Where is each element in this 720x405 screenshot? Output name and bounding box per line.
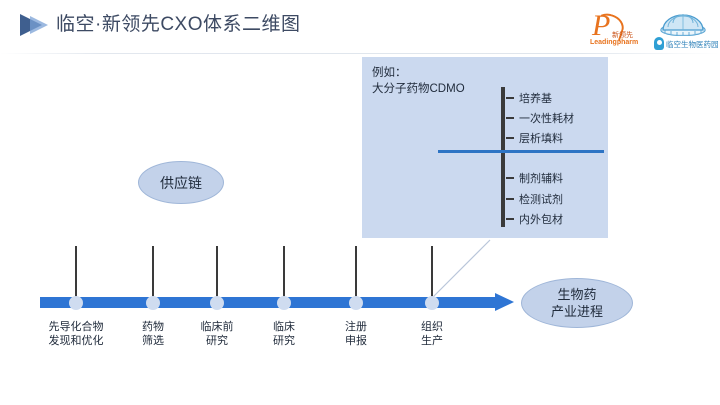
callout-item: 制剂辅料 bbox=[506, 170, 563, 186]
tick-icon bbox=[506, 177, 514, 179]
timeline-stem bbox=[431, 246, 433, 302]
timeline-stage-label: 组织 生产 bbox=[421, 320, 443, 348]
dome-building-icon bbox=[660, 10, 706, 36]
play-triangle-highlight-icon bbox=[30, 16, 48, 34]
timeline-stem bbox=[75, 246, 77, 302]
timeline-arrow-icon bbox=[495, 293, 514, 311]
timeline-node[interactable] bbox=[69, 296, 83, 310]
callout-item: 检测试剂 bbox=[506, 191, 563, 207]
callout-horizontal-line bbox=[438, 150, 604, 153]
callout-item: 内外包材 bbox=[506, 211, 563, 227]
timeline-stage-label: 注册 申报 bbox=[345, 320, 367, 348]
bio-industry-label: 生物药 产业进程 bbox=[551, 286, 603, 320]
park-logo: 临空生物医药园 bbox=[652, 10, 714, 52]
timeline-stage-label: 临床 研究 bbox=[273, 320, 295, 348]
timeline-node[interactable] bbox=[210, 296, 224, 310]
callout-item-label: 内外包材 bbox=[519, 211, 563, 227]
timeline-stage-label: 药物 筛选 bbox=[142, 320, 164, 348]
leadingpharm-p-mark: P bbox=[592, 11, 610, 41]
timeline-stem bbox=[355, 246, 357, 302]
supply-chain-label: 供应链 bbox=[160, 173, 202, 193]
tick-icon bbox=[506, 198, 514, 200]
callout-item-label: 层析填料 bbox=[519, 130, 563, 146]
timeline-node[interactable] bbox=[425, 296, 439, 310]
tick-icon bbox=[506, 218, 514, 220]
page-title: 临空·新领先CXO体系二维图 bbox=[56, 10, 301, 40]
callout-item: 培养基 bbox=[506, 90, 552, 106]
callout-heading: 例如： 大分子药物CDMO bbox=[372, 65, 465, 97]
header-divider bbox=[0, 53, 720, 54]
callout-item-label: 培养基 bbox=[519, 90, 552, 106]
timeline-stem bbox=[283, 246, 285, 302]
cdmo-callout-box: 例如： 大分子药物CDMO 培养基 一次性耗材 层析填料 制剂辅料 检测试剂 内… bbox=[362, 57, 608, 238]
callout-item-label: 制剂辅料 bbox=[519, 170, 563, 186]
bio-industry-ellipse: 生物药 产业进程 bbox=[521, 278, 633, 328]
slide-canvas: 临空·新领先CXO体系二维图 P 新领先 Leadingpharm 临空生物医药… bbox=[0, 0, 720, 405]
park-name: 临空生物医药园 bbox=[666, 39, 719, 50]
timeline-stem bbox=[216, 246, 218, 302]
tick-icon bbox=[506, 117, 514, 119]
timeline-node[interactable] bbox=[277, 296, 291, 310]
tick-icon bbox=[506, 137, 514, 139]
callout-vertical-spine bbox=[501, 87, 505, 227]
timeline-node[interactable] bbox=[146, 296, 160, 310]
callout-connector-line bbox=[428, 238, 492, 302]
leadingpharm-logo: P 新领先 Leadingpharm bbox=[590, 11, 646, 51]
timeline-stage-label: 临床前 研究 bbox=[201, 320, 234, 348]
timeline-node[interactable] bbox=[349, 296, 363, 310]
tick-icon bbox=[506, 97, 514, 99]
timeline-stem bbox=[152, 246, 154, 302]
timeline-stage-label: 先导化合物 发现和优化 bbox=[49, 320, 104, 348]
callout-item: 一次性耗材 bbox=[506, 110, 574, 126]
callout-item-label: 一次性耗材 bbox=[519, 110, 574, 126]
park-badge-icon bbox=[654, 37, 664, 50]
callout-item-label: 检测试剂 bbox=[519, 191, 563, 207]
callout-item: 层析填料 bbox=[506, 130, 563, 146]
leadingpharm-en-name: Leadingpharm bbox=[590, 39, 638, 46]
supply-chain-ellipse: 供应链 bbox=[138, 161, 224, 204]
